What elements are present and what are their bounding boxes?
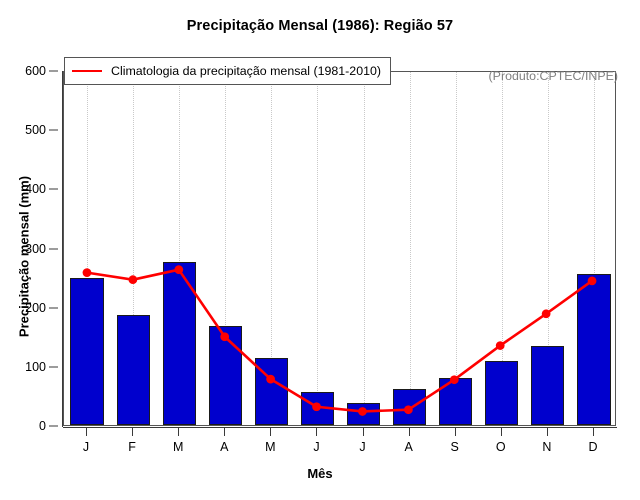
x-tick-mark — [224, 427, 225, 436]
climatology-point-o-9 — [496, 341, 505, 350]
climatology-point-s-8 — [450, 375, 459, 384]
climatology-point-f-1 — [128, 275, 137, 284]
climatology-point-a-7 — [404, 405, 413, 414]
x-tick-label-0: J — [66, 440, 106, 454]
precipitation-chart-figure: Precipitação Mensal (1986): Região 57 01… — [0, 0, 640, 500]
x-tick-mark — [363, 427, 364, 436]
x-tick-mark — [409, 427, 410, 436]
x-tick-mark — [455, 427, 456, 436]
y-tick-label: 500 — [25, 123, 46, 137]
legend-line-swatch-icon — [72, 70, 102, 72]
x-tick-label-11: D — [573, 440, 613, 454]
climatology-point-d-11 — [588, 276, 597, 285]
climatology-line-series — [64, 72, 615, 425]
x-tick-mark — [86, 427, 87, 436]
x-axis-line — [63, 427, 617, 428]
y-tick-mark — [49, 130, 58, 131]
x-tick-mark — [593, 427, 594, 436]
x-tick-mark — [547, 427, 548, 436]
y-tick-mark — [49, 189, 58, 190]
y-tick-mark — [49, 71, 58, 72]
x-tick-label-4: M — [250, 440, 290, 454]
legend-label: Climatologia da precipitação mensal (198… — [111, 64, 381, 78]
climatology-point-j-0 — [83, 268, 92, 277]
y-tick-mark — [49, 307, 58, 308]
x-tick-label-8: S — [435, 440, 475, 454]
x-tick-label-3: A — [204, 440, 244, 454]
x-tick-label-5: J — [296, 440, 336, 454]
x-axis-label: Mês — [0, 466, 640, 481]
climatology-point-m-4 — [266, 375, 275, 384]
climatology-point-a-3 — [220, 332, 229, 341]
x-tick-mark — [501, 427, 502, 436]
climatology-line — [87, 270, 592, 412]
y-tick-label: 0 — [39, 419, 46, 433]
y-tick-mark — [49, 426, 58, 427]
climatology-point-n-10 — [542, 309, 551, 318]
x-tick-mark — [132, 427, 133, 436]
y-tick-mark — [49, 248, 58, 249]
x-tick-label-1: F — [112, 440, 152, 454]
y-tick-label: 600 — [25, 64, 46, 78]
x-tick-label-6: J — [343, 440, 383, 454]
x-tick-mark — [270, 427, 271, 436]
x-tick-label-10: N — [527, 440, 567, 454]
x-tick-mark — [316, 427, 317, 436]
x-tick-label-2: M — [158, 440, 198, 454]
climatology-point-j-6 — [358, 407, 367, 416]
climatology-point-j-5 — [312, 402, 321, 411]
x-tick-mark — [178, 427, 179, 436]
y-axis: 0100200300400500600 — [0, 0, 64, 500]
y-tick-mark — [49, 366, 58, 367]
x-tick-label-9: O — [481, 440, 521, 454]
x-tick-label-7: A — [389, 440, 429, 454]
chart-title: Precipitação Mensal (1986): Região 57 — [0, 18, 640, 34]
climatology-point-m-2 — [174, 265, 183, 274]
chart-legend: Climatologia da precipitação mensal (198… — [64, 57, 391, 85]
y-axis-label: Precipitação mensal (mm) — [17, 137, 32, 377]
plot-area — [63, 71, 616, 426]
product-annotation: (Produto:CPTEC/INPE) — [489, 69, 618, 83]
